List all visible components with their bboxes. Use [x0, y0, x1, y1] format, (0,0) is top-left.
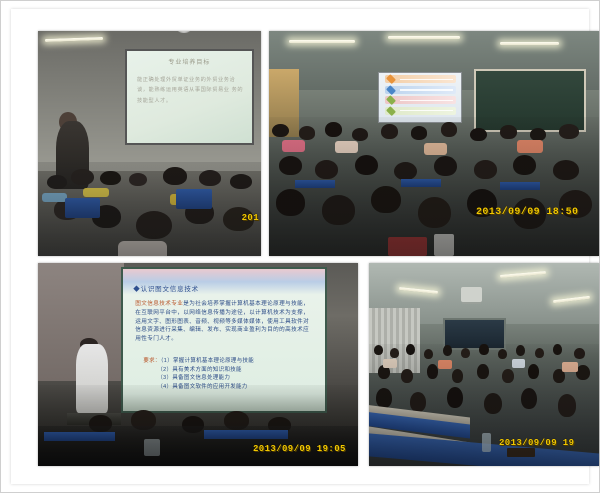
slide-bullet-row [385, 86, 456, 94]
ceiling-light-icon [289, 40, 355, 43]
slide-list-item: （3）具备图文信息处理能力 [143, 374, 314, 383]
ceiling-light-icon [500, 42, 559, 45]
photo-bottom-left-scene: ◆认识图文信息技术 图文信息技术专业是为社会培养掌握计算机基本理论原理与技能，在… [38, 263, 358, 466]
projector-icon [461, 287, 482, 301]
slide-list-item: （1）掌握计算机基本理论原理与技能 [161, 358, 254, 364]
diamond-icon [386, 95, 396, 105]
diamond-icon [386, 106, 396, 116]
photo-timestamp: 2013/09/09 19:05 [253, 444, 346, 454]
slide-bullet-row [385, 107, 456, 115]
photo-bottom-left[interactable]: ◆认识图文信息技术 图文信息技术专业是为社会培养掌握计算机基本理论原理与技能，在… [38, 263, 358, 466]
photo-top-left-scene: 专业培养目标 能正确处理外贸单证业务的外贸业务洽谈，能熟练运用英语从事国际贸易业… [38, 31, 261, 256]
shadow-overlay [38, 162, 261, 257]
slide-bullet-text [400, 89, 453, 91]
slide-list-lead: 要求： [143, 358, 160, 364]
slide-title: ◆认识图文信息技术 [133, 283, 199, 293]
slide-bullet-row [385, 96, 456, 104]
projection-screen: 专业培养目标 能正确处理外贸单证业务的外贸业务洽谈，能熟练运用英语从事国际贸易业… [125, 49, 254, 145]
photo-top-right-scene: 2013/09/09 18:50 [269, 31, 599, 256]
diamond-icon [386, 74, 396, 84]
slide-bullet-text [400, 100, 453, 102]
photo-timestamp: 2013/09/09 18:50 [476, 207, 578, 218]
collage-mat: 专业培养目标 能正确处理外贸单证业务的外贸业务洽谈，能熟练运用英语从事国际贸易业… [11, 9, 589, 484]
projection-screen [378, 72, 463, 124]
photo-bottom-right[interactable]: 2013/09/09 19 [369, 263, 599, 466]
photo-collage: 专业培养目标 能正确处理外贸单证业务的外贸业务洽谈，能熟练运用英语从事国际贸易业… [0, 0, 600, 493]
slide-bullet-text [400, 79, 453, 81]
ceiling-light-icon [388, 36, 461, 39]
slide-bullet-row [385, 75, 456, 83]
diamond-icon [386, 85, 396, 95]
slide-body: 能正确处理外贸单证业务的外贸业务洽谈，能熟练运用英语从事国际贸易业 务的技能型人… [137, 75, 244, 106]
photo-top-right[interactable]: 2013/09/09 18:50 [269, 31, 599, 256]
photo-top-left[interactable]: 专业培养目标 能正确处理外贸单证业务的外贸业务洽谈，能熟练运用英语从事国际贸易业… [38, 31, 261, 256]
slide-body-lead: 图文信息技术专业 [135, 301, 183, 307]
photo-bottom-right-scene: 2013/09/09 19 [369, 263, 599, 466]
photo-timestamp: 201 [242, 213, 259, 223]
photo-timestamp: 2013/09/09 19 [499, 438, 574, 448]
slide-bullet-text [400, 110, 453, 112]
slide-body-text: 是为社会培养掌握计算机基本理论原理与技能，在互联网平台中，以网络信息传播为途径，… [135, 301, 309, 342]
slide-body: 图文信息技术专业是为社会培养掌握计算机基本理论原理与技能，在互联网平台中，以网络… [135, 300, 314, 343]
shadow-overlay [269, 117, 599, 257]
slide-list-item: （2）具有美术方面的知识和技能 [143, 366, 314, 375]
slide-title: 专业培养目标 [127, 57, 252, 66]
